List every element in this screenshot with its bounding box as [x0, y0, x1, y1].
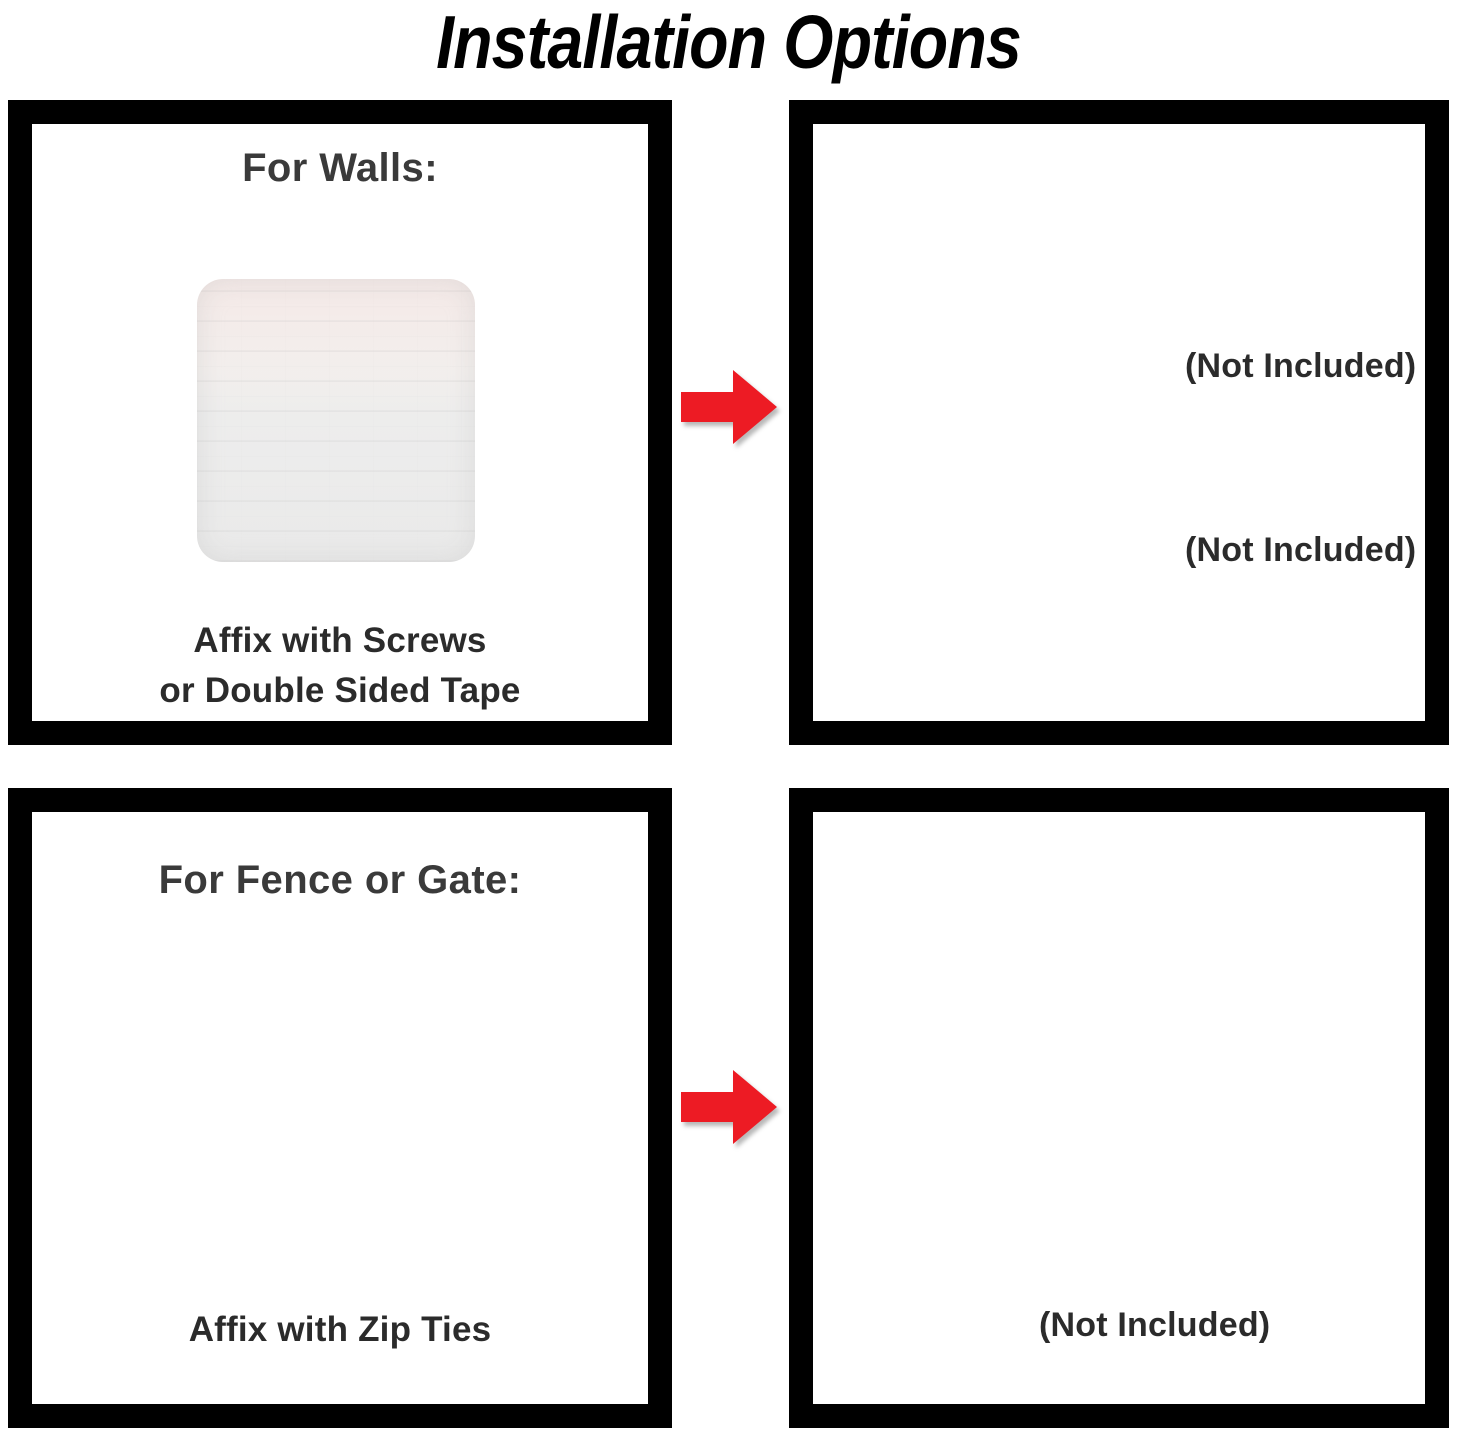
red-right-arrow-icon-2	[681, 1068, 777, 1146]
for-walls-heading: For Walls:	[32, 146, 648, 191]
walls-caption-line-2: or Double Sided Tape	[32, 666, 648, 716]
white-brick-wall-swatch	[197, 279, 475, 562]
red-right-arrow-icon	[681, 368, 777, 446]
for-fence-heading: For Fence or Gate:	[32, 858, 648, 903]
panel-wall-hardware-content: (Not Included)	[813, 124, 1425, 721]
panel-for-walls: For Walls: Affix with Screws or Double S…	[8, 100, 672, 745]
screws-not-included-label: (Not Included)	[1185, 531, 1416, 570]
tape-not-included-label: (Not Included)	[1185, 347, 1416, 386]
fence-caption-line-1: Affix with Zip Ties	[32, 1305, 648, 1355]
panel-zip-ties: (Not Included)	[789, 788, 1449, 1428]
walls-caption-line-1: Affix with Screws	[32, 616, 648, 666]
panel-for-walls-content: For Walls: Affix with Screws or Double S…	[32, 124, 648, 721]
zipties-not-included-label: (Not Included)	[1039, 1306, 1270, 1345]
page-title: Installation Options	[102, 2, 1355, 82]
panel-zip-ties-content: (Not Included)	[813, 812, 1425, 1404]
panel-wall-hardware: (Not Included)	[789, 100, 1449, 745]
panel-for-fence-or-gate: For Fence or Gate:	[8, 788, 672, 1428]
panel-for-fence-or-gate-content: For Fence or Gate:	[32, 812, 648, 1404]
